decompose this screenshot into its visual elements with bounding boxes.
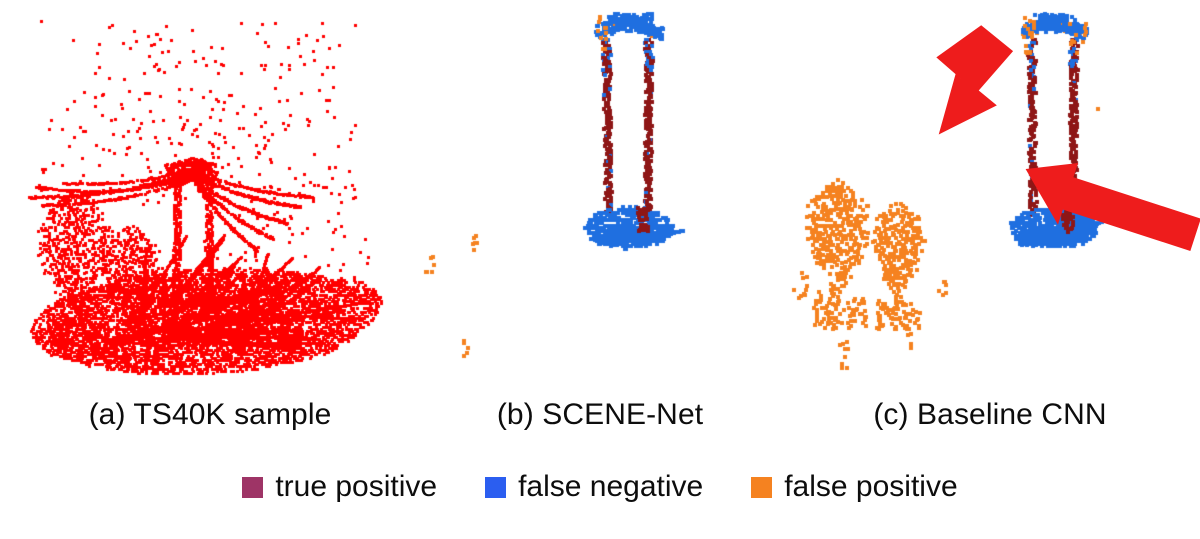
legend-item-false-negative: false negative <box>485 472 703 502</box>
figure-root: (a) TS40K sample (b) SCENE-Net (c) Basel… <box>0 0 1200 539</box>
panel-c-baseline-cnn <box>780 0 1200 400</box>
panel-a-ts40k-sample <box>0 0 420 400</box>
panel-captions: (a) TS40K sample (b) SCENE-Net (c) Basel… <box>0 398 1200 450</box>
panel-row <box>0 0 1200 400</box>
legend-label-false-positive: false positive <box>784 472 957 502</box>
legend-swatch-false-positive <box>751 477 772 498</box>
legend-item-true-positive: true positive <box>242 472 437 502</box>
point-cloud-a <box>0 0 420 400</box>
legend: true positive false negative false posit… <box>0 462 1200 512</box>
caption-panel-c: (c) Baseline CNN <box>780 398 1200 432</box>
caption-panel-b: (b) SCENE-Net <box>420 398 780 432</box>
point-cloud-c <box>780 0 1200 400</box>
legend-item-false-positive: false positive <box>751 472 957 502</box>
legend-label-false-negative: false negative <box>518 472 703 502</box>
legend-swatch-true-positive <box>242 477 263 498</box>
point-cloud-b <box>420 0 780 400</box>
panel-b-scene-net <box>420 0 780 400</box>
legend-swatch-false-negative <box>485 477 506 498</box>
legend-label-true-positive: true positive <box>275 472 437 502</box>
caption-panel-a: (a) TS40K sample <box>0 398 420 432</box>
